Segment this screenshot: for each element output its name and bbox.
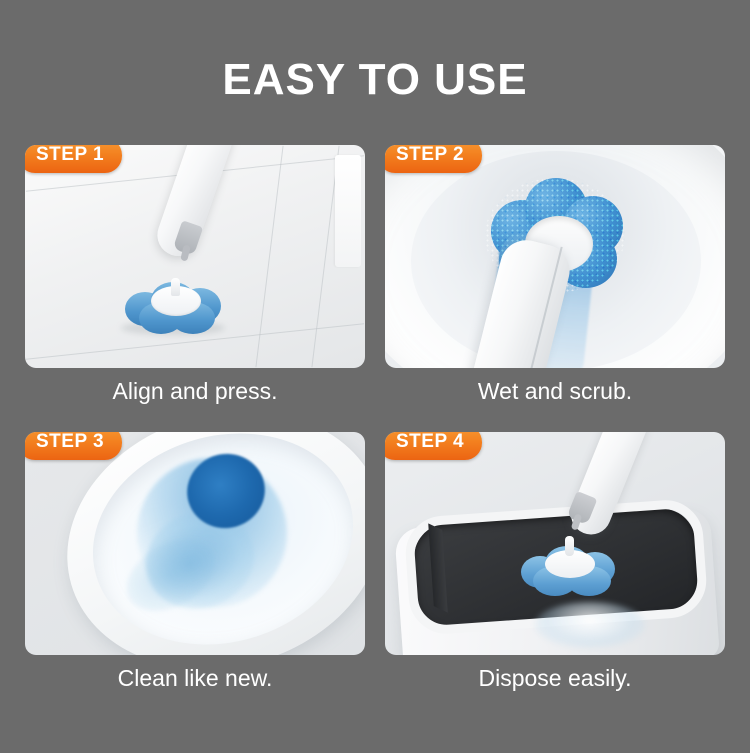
wall-panel: [335, 155, 361, 267]
step-caption-4: Dispose easily.: [385, 665, 725, 693]
step-card-1: STEP 1 Align and press.: [25, 145, 365, 406]
pad-mount-nub: [171, 278, 180, 296]
step-caption-1: Align and press.: [25, 378, 365, 406]
step-badge-3: STEP 3: [25, 432, 122, 460]
pad-mount-nub: [565, 536, 574, 556]
step-badge-4: STEP 4: [385, 432, 482, 460]
used-cleaning-pad: [521, 544, 615, 596]
step-2-image: STEP 2: [385, 145, 725, 368]
step-badge-2: STEP 2: [385, 145, 482, 173]
page-title: EASY TO USE: [0, 58, 750, 102]
step-3-image: STEP 3: [25, 432, 365, 655]
step-caption-3: Clean like new.: [25, 665, 365, 693]
bin-interior-glow: [535, 602, 645, 648]
steps-grid: STEP 1 Align and press. STEP 2 Wet and s…: [25, 145, 725, 692]
step-card-2: STEP 2 Wet and scrub.: [385, 145, 725, 406]
step-card-4: STEP 4 Dispose easily.: [385, 432, 725, 693]
step-badge-1: STEP 1: [25, 145, 122, 173]
step-card-3: STEP 3 Clean like new.: [25, 432, 365, 693]
step-caption-2: Wet and scrub.: [385, 378, 725, 406]
cleaning-pad: [125, 278, 221, 334]
step-4-image: STEP 4: [385, 432, 725, 655]
step-1-image: STEP 1: [25, 145, 365, 368]
